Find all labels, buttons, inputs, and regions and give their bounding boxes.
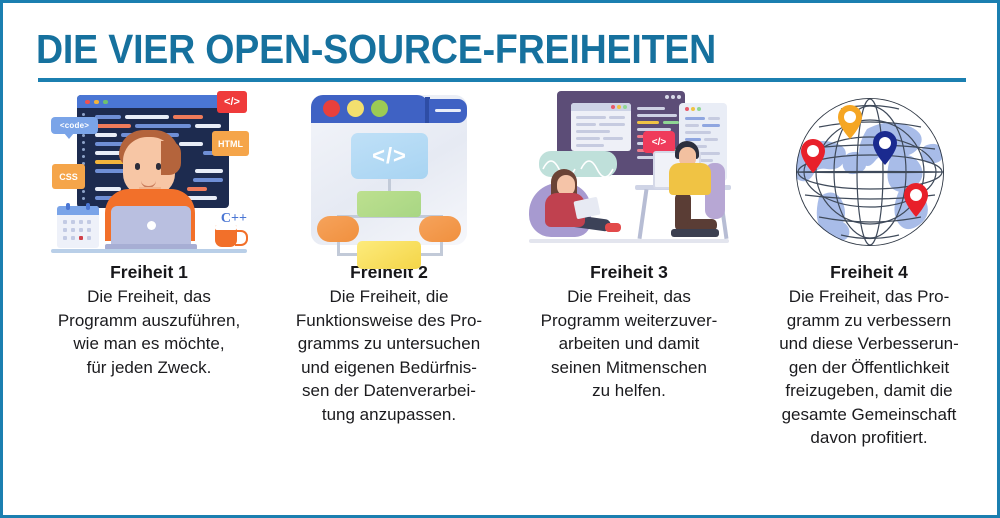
code-speech-bubble: <code>: [51, 117, 98, 134]
person-eye-right: [156, 163, 161, 170]
code-tag-box: </>: [351, 133, 428, 179]
person-hair-side: [161, 141, 181, 175]
css-badge: CSS: [52, 164, 85, 189]
freedom-column-3: </>: [509, 89, 749, 450]
window-minimize-dot-icon: [347, 100, 364, 117]
laptop-logo: [147, 221, 156, 230]
man-shoes: [671, 229, 719, 237]
location-pins-group: [775, 93, 965, 251]
freedom-body-3: Die Freiheit, das Programm weiterzuver- …: [541, 285, 718, 403]
freedom-column-2: </> Freiheit 2 Die Freiheit, die Funktio…: [269, 89, 509, 450]
html-badge: HTML: [212, 131, 249, 156]
flow-node-green: [357, 191, 421, 217]
person-eye-left: [135, 163, 140, 170]
coffee-mug-rim: [215, 225, 237, 230]
floor-line: [529, 239, 729, 243]
wall-monitor-doc-panel: [571, 103, 631, 151]
map-pin-red-left: [801, 139, 825, 173]
freedom-body-2: Die Freiheit, die Funktionsweise des Pro…: [296, 285, 482, 426]
freedom-heading-4: Freiheit 4: [830, 262, 908, 282]
map-pin-navy: [873, 131, 897, 165]
map-pin-red-right: [904, 183, 928, 217]
freedom-heading-1: Freiheit 1: [110, 262, 188, 282]
desk-leg-left: [638, 189, 649, 239]
window-close-dot-icon: [323, 100, 340, 117]
woman-shoe: [605, 223, 621, 232]
waveform-panel: [539, 151, 617, 177]
code-slash-badge: </>: [217, 91, 247, 113]
man-sweater: [669, 163, 711, 195]
window-maximize-dot-icon: [103, 100, 108, 105]
flow-node-orange-left: [317, 216, 359, 242]
map-pin-orange: [838, 105, 862, 139]
infographic-root: DIE VIER OPEN-SOURCE-FREIHEITEN: [0, 0, 1000, 518]
header: DIE VIER OPEN-SOURCE-FREIHEITEN: [3, 3, 1000, 85]
window-maximize-dot-icon: [371, 100, 388, 117]
flow-node-orange-right: [419, 216, 461, 242]
page-title: DIE VIER OPEN-SOURCE-FREIHEITEN: [36, 28, 716, 71]
browser-flowchart-illustration: </>: [289, 89, 489, 254]
editor-title-bar: [77, 95, 229, 108]
browser-tab-line: [435, 109, 461, 112]
freedom-body-4: Die Freiheit, das Pro- gramm zu verbesse…: [779, 285, 959, 450]
two-developers-illustration: </>: [529, 89, 729, 254]
flow-node-yellow: [357, 241, 421, 269]
freedom-body-1: Die Freiheit, das Programm auszuführen, …: [58, 285, 240, 379]
developer-at-laptop-illustration: <code> </> HTML CSS C++: [49, 89, 249, 254]
freedom-column-1: <code> </> HTML CSS C++: [29, 89, 269, 450]
calendar-icon: [57, 206, 99, 248]
freedom-heading-3: Freiheit 3: [590, 262, 668, 282]
coffee-mug-handle: [235, 230, 248, 246]
title-divider: [38, 78, 966, 82]
freedom-column-4: Freiheit 4 Die Freiheit, das Pro- gramm …: [749, 89, 989, 450]
globe-with-location-pins-illustration: [769, 89, 969, 254]
window-close-dot-icon: [85, 100, 90, 105]
woman-laptop: [573, 197, 600, 220]
window-minimize-dot-icon: [94, 100, 99, 105]
desk-surface: [51, 249, 247, 253]
code-speech-bubble: </>: [643, 131, 675, 153]
waveform-icon: [539, 151, 617, 177]
freedom-columns: <code> </> HTML CSS C++: [3, 89, 1000, 450]
